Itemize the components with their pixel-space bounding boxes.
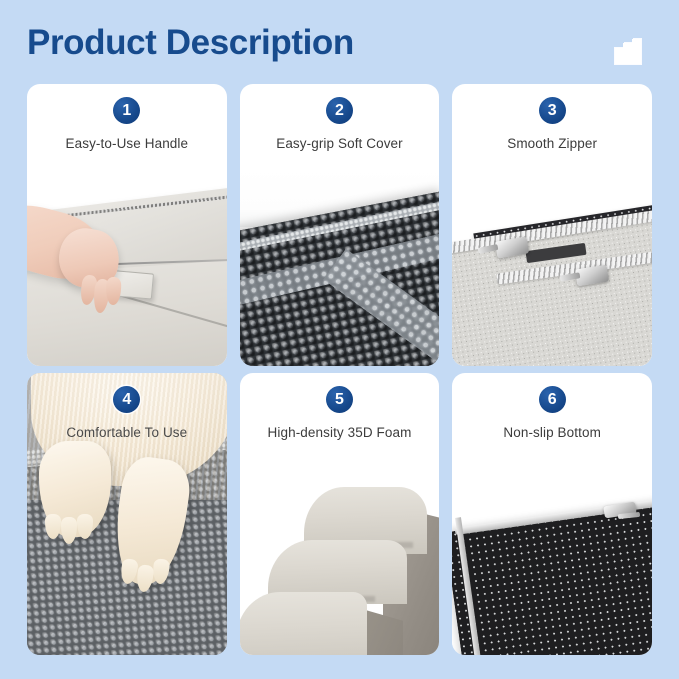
card-6-header: 6 Non-slip Bottom <box>452 373 652 457</box>
card-6-photo <box>452 457 652 655</box>
stairs-icon <box>613 38 643 66</box>
feature-card-3[interactable]: 3 Smooth Zipper <box>452 84 652 366</box>
feature-card-2[interactable]: 2 Easy-grip Soft Cover <box>240 84 440 366</box>
feature-card-1[interactable]: 1 Easy-to-Use Handle <box>27 84 227 366</box>
feature-card-5[interactable]: 5 High-density 35D Foam <box>240 373 440 655</box>
card-6-number-badge: 6 <box>539 386 566 413</box>
card-3-header: 3 Smooth Zipper <box>452 84 652 168</box>
card-5-label: High-density 35D Foam <box>268 425 412 440</box>
card-4-header: 4 Comfortable To Use <box>27 373 227 457</box>
card-3-number-badge: 3 <box>539 97 566 124</box>
page-title: Product Description <box>27 23 354 63</box>
card-5-photo <box>240 457 440 655</box>
card-1-label: Easy-to-Use Handle <box>66 136 189 151</box>
card-5-number-badge: 5 <box>326 386 353 413</box>
card-2-header: 2 Easy-grip Soft Cover <box>240 84 440 168</box>
card-6-label: Non-slip Bottom <box>503 425 601 440</box>
feature-card-4[interactable]: 4 Comfortable To Use <box>27 373 227 655</box>
card-5-header: 5 High-density 35D Foam <box>240 373 440 457</box>
page-header: Product Description <box>0 0 679 84</box>
feature-card-grid: 1 Easy-to-Use Handle 2 Easy-grip Soft Co… <box>27 84 652 654</box>
card-2-label: Easy-grip Soft Cover <box>276 136 403 151</box>
card-1-photo <box>27 168 227 366</box>
card-1-number-badge: 1 <box>113 97 140 124</box>
card-1-header: 1 Easy-to-Use Handle <box>27 84 227 168</box>
card-4-label: Comfortable To Use <box>66 425 187 440</box>
card-2-number-badge: 2 <box>326 97 353 124</box>
card-3-label: Smooth Zipper <box>507 136 597 151</box>
card-4-number-badge: 4 <box>113 386 140 413</box>
card-3-photo <box>452 168 652 366</box>
card-2-photo <box>240 168 440 366</box>
feature-card-6[interactable]: 6 Non-slip Bottom <box>452 373 652 655</box>
